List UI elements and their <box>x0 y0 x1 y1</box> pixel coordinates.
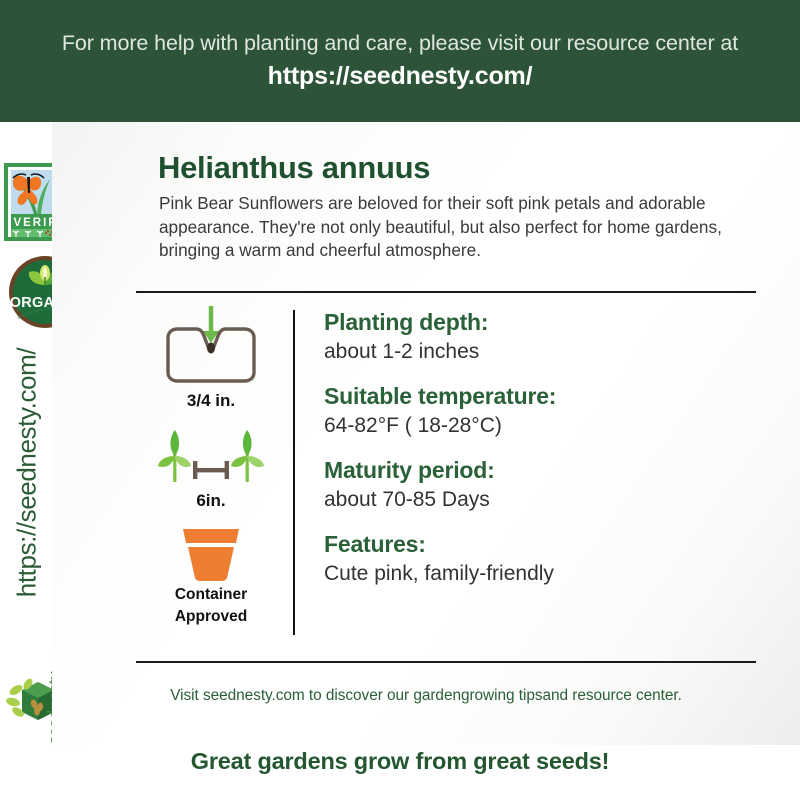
spec-planting-depth: Planting depth: about 1-2 inches <box>324 308 754 365</box>
page-title: Helianthus annuus <box>158 150 430 186</box>
container-approved-caption-line2: Approved <box>175 607 247 626</box>
spec-list: Planting depth: about 1-2 inches Suitabl… <box>324 308 754 587</box>
divider-vertical <box>293 310 295 635</box>
seed-packet-graphic: For more help with planting and care, pl… <box>0 0 800 800</box>
spec-value: Cute pink, family-friendly <box>324 560 754 587</box>
spec-value: 64-82°F ( 18-28°C) <box>324 412 754 439</box>
plant-spacing-icon <box>153 426 269 488</box>
banner-help-text: For more help with planting and care, pl… <box>62 31 738 56</box>
seedling-right <box>231 430 264 482</box>
plant-spacing-block: 6in. <box>153 410 269 510</box>
spec-features: Features: Cute pink, family-friendly <box>324 530 754 587</box>
vertical-url-label: https://seednesty.com/ <box>12 303 43 643</box>
container-approved-block: Container Approved <box>175 510 247 626</box>
product-description: Pink Bear Sunflowers are beloved for the… <box>159 192 757 263</box>
spec-value: about 1-2 inches <box>324 338 754 365</box>
planting-depth-block: 3/4 in. <box>152 304 270 410</box>
spec-label: Suitable temperature: <box>324 382 754 411</box>
spec-label: Maturity period: <box>324 456 754 485</box>
spec-label: Features: <box>324 530 754 559</box>
measure-bar <box>193 461 229 479</box>
banner-url[interactable]: https://seednesty.com/ <box>268 62 533 91</box>
container-approved-caption-line1: Container <box>175 585 247 604</box>
icon-column: 3/4 in. <box>136 304 286 649</box>
spec-maturity-period: Maturity period: about 70-85 Days <box>324 456 754 513</box>
card-footnote: Visit seednesty.com to discover our gard… <box>52 687 800 705</box>
seedling-left <box>158 430 191 482</box>
spec-suitable-temperature: Suitable temperature: 64-82°F ( 18-28°C) <box>324 382 754 439</box>
plant-spacing-caption: 6in. <box>196 491 225 510</box>
divider-bottom <box>136 661 756 663</box>
top-banner: For more help with planting and care, pl… <box>0 0 800 122</box>
spec-label: Planting depth: <box>324 308 754 337</box>
planting-depth-icon <box>152 304 270 388</box>
planting-depth-caption: 3/4 in. <box>187 391 235 410</box>
tagline: Great gardens grow from great seeds! <box>0 748 800 775</box>
spec-value: about 70-85 Days <box>324 486 754 513</box>
info-card: Helianthus annuus Pink Bear Sunflowers a… <box>52 122 800 745</box>
divider-top <box>136 291 756 293</box>
container-pot-icon <box>176 526 246 582</box>
left-rail: NON GMO VERIFIED <box>0 122 52 745</box>
